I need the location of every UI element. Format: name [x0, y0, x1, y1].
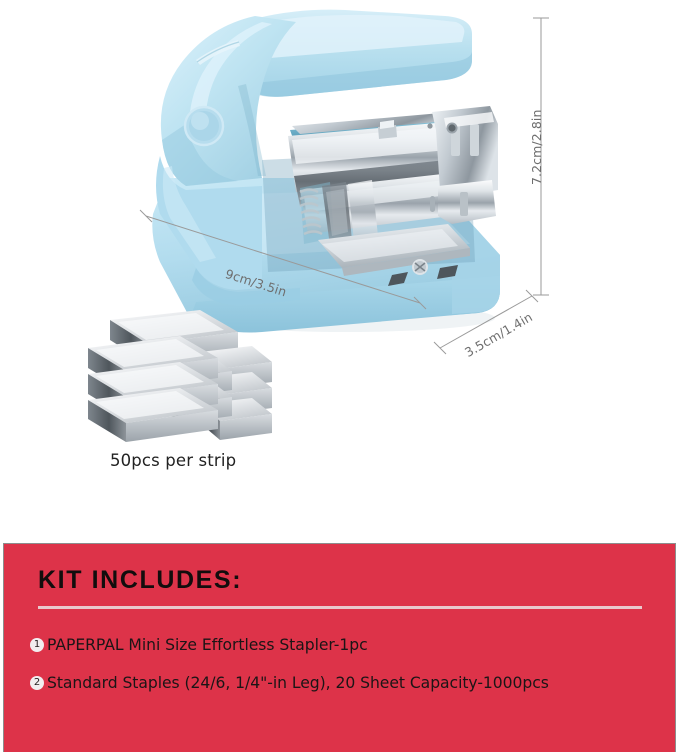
dimension-label-height: 7.2cm/2.8in — [529, 109, 544, 185]
list-marker-circle: 1 — [30, 638, 44, 652]
kit-list-item-text: PAPERPAL Mini Size Effortless Stapler-1p… — [47, 634, 368, 656]
kit-includes-list: 1PAPERPAL Mini Size Effortless Stapler-1… — [30, 634, 665, 710]
kit-list-item-text: Standard Staples (24/6, 1/4"-in Leg), 20… — [47, 672, 549, 694]
list-marker-circle: 2 — [30, 676, 44, 690]
product-photo-area: 9cm/3.5in 3.5cm/1.4in 7.2cm/2.8in 50pcs … — [0, 0, 679, 525]
kit-includes-heading: KIT INCLUDES: — [38, 566, 242, 595]
heading-divider — [38, 606, 642, 609]
stapler-graphic — [152, 10, 500, 333]
product-illustration — [0, 0, 679, 525]
kit-list-item: 1PAPERPAL Mini Size Effortless Stapler-1… — [30, 634, 665, 656]
kit-list-item: 2Standard Staples (24/6, 1/4"-in Leg), 2… — [30, 672, 665, 694]
kit-includes-banner: KIT INCLUDES: 1PAPERPAL Mini Size Effort… — [3, 543, 676, 752]
staples-caption: 50pcs per strip — [110, 451, 236, 470]
